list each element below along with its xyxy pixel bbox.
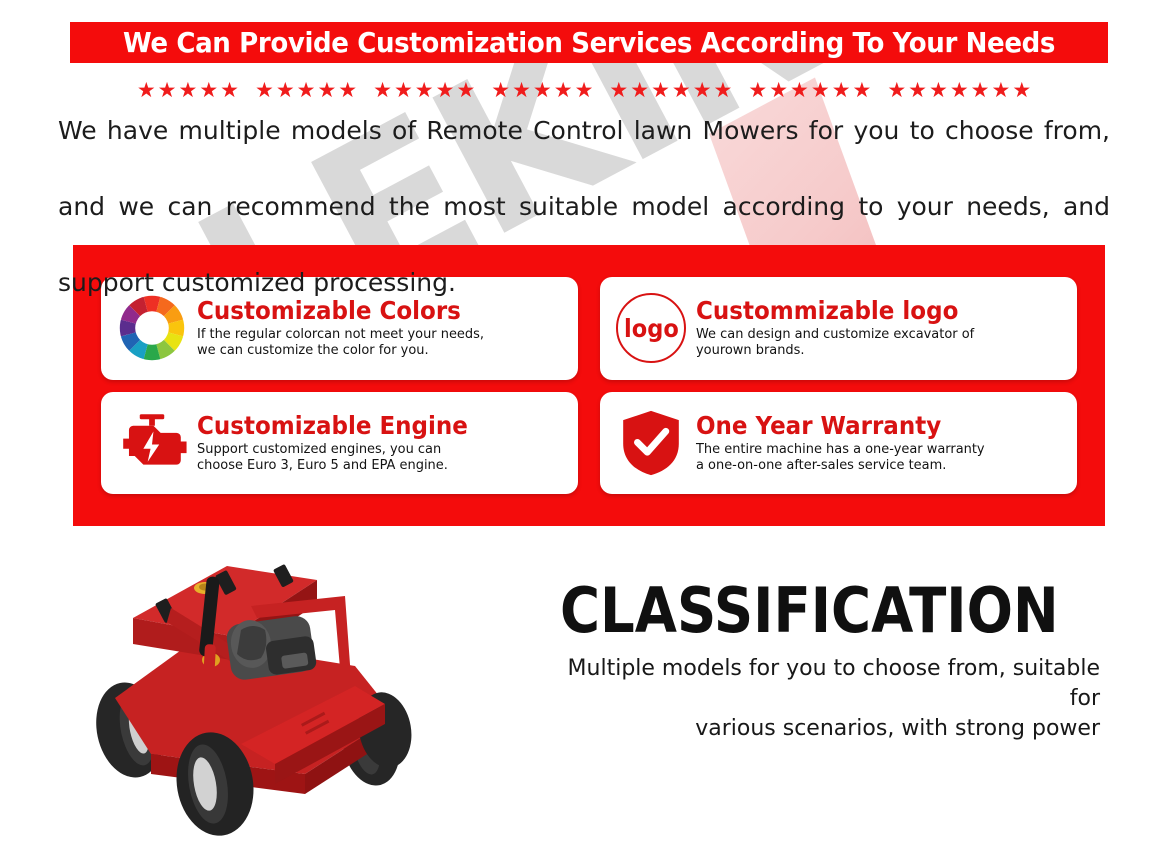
star-icon: ★: [630, 80, 649, 101]
stars-divider: ★★★★★★★★★★★★★★★★★★★★★★★★★★★★★★★★★★★★★★★: [0, 74, 1168, 106]
classification-section: CLASSIFICATION Multiple models for you t…: [560, 578, 1100, 744]
star-icon: ★: [297, 80, 316, 101]
star-group-7: ★★★★★★★: [886, 80, 1032, 101]
star-icon: ★: [554, 80, 573, 101]
logo-circle-icon: logo: [614, 291, 688, 365]
star-group-5: ★★★★★★: [608, 80, 733, 101]
logo-circle-outline: logo: [616, 293, 686, 363]
star-icon: ★: [137, 80, 156, 101]
feature-card-warranty-desc-1: The entire machine has a one-year warran…: [696, 441, 1048, 457]
feature-card-warranty-title: One Year Warranty: [696, 413, 1034, 439]
star-group-4: ★★★★★: [490, 80, 594, 101]
star-icon: ★: [317, 80, 336, 101]
shield-check-icon: [614, 406, 688, 480]
feature-card-logo-body: Custommizable logo We can design and cus…: [696, 298, 1063, 358]
feature-card-engine-desc-1: Support customized engines, you can: [197, 441, 549, 457]
feature-card-colors-body: Customizable Colors If the regular color…: [197, 298, 564, 358]
star-icon: ★: [179, 80, 198, 101]
star-icon: ★: [853, 80, 872, 101]
star-group-2: ★★★★★: [254, 80, 358, 101]
feature-card-logo-desc-1: We can design and customize excavator of: [696, 326, 1048, 342]
star-icon: ★: [929, 80, 948, 101]
remote-control-lawn-mower-photo: [55, 548, 455, 840]
marketing-page: LEKING We Can Provide Customization Serv…: [0, 0, 1168, 847]
star-icon: ★: [950, 80, 969, 101]
star-icon: ★: [651, 80, 670, 101]
feature-card-warranty-body: One Year Warranty The entire machine has…: [696, 413, 1063, 473]
feature-card-engine-body: Customizable Engine Support customized e…: [197, 413, 564, 473]
banner-title: We Can Provide Customization Services Ac…: [106, 22, 1071, 63]
star-icon: ★: [255, 80, 274, 101]
star-icon: ★: [575, 80, 594, 101]
intro-paragraph: We have multiple models of Remote Contro…: [58, 112, 1110, 302]
classification-title: CLASSIFICATION: [560, 578, 1035, 644]
feature-card-colors-desc-2: we can customize the color for you.: [197, 342, 549, 358]
star-icon: ★: [394, 80, 413, 101]
star-icon: ★: [832, 80, 851, 101]
star-icon: ★: [436, 80, 455, 101]
star-icon: ★: [609, 80, 628, 101]
star-group-6: ★★★★★★: [747, 80, 872, 101]
feature-card-engine-title: Customizable Engine: [197, 413, 535, 439]
feature-card-logo-desc-2: yourown brands.: [696, 342, 1048, 358]
star-icon: ★: [991, 80, 1010, 101]
feature-card-colors-desc-1: If the regular colorcan not meet your ne…: [197, 326, 549, 342]
feature-card-colors-title: Customizable Colors: [197, 298, 535, 324]
star-icon: ★: [971, 80, 990, 101]
star-icon: ★: [1012, 80, 1031, 101]
star-icon: ★: [790, 80, 809, 101]
star-icon: ★: [158, 80, 177, 101]
feature-card-engine-desc-2: choose Euro 3, Euro 5 and EPA engine.: [197, 457, 549, 473]
color-wheel-icon: [115, 291, 189, 365]
star-icon: ★: [491, 80, 510, 101]
intro-line-2: and we can recommend the most suitable m…: [58, 188, 1110, 264]
star-icon: ★: [199, 80, 218, 101]
intro-line-3: support customized processing.: [58, 264, 1110, 302]
star-icon: ★: [748, 80, 767, 101]
classification-subtitle: Multiple models for you to choose from, …: [560, 654, 1100, 744]
star-icon: ★: [456, 80, 475, 101]
star-icon: ★: [672, 80, 691, 101]
star-group-3: ★★★★★: [372, 80, 476, 101]
engine-icon: [115, 406, 189, 480]
star-icon: ★: [338, 80, 357, 101]
star-icon: ★: [220, 80, 239, 101]
star-icon: ★: [769, 80, 788, 101]
logo-circle-label: logo: [624, 314, 679, 343]
star-icon: ★: [908, 80, 927, 101]
star-icon: ★: [276, 80, 295, 101]
star-icon: ★: [811, 80, 830, 101]
star-icon: ★: [714, 80, 733, 101]
classification-subtitle-line-1: Multiple models for you to choose from, …: [560, 654, 1100, 714]
star-group-1: ★★★★★: [136, 80, 240, 101]
star-icon: ★: [512, 80, 531, 101]
star-icon: ★: [373, 80, 392, 101]
star-icon: ★: [533, 80, 552, 101]
feature-card-logo-title: Custommizable logo: [696, 298, 1034, 324]
intro-line-1: We have multiple models of Remote Contro…: [58, 112, 1110, 188]
feature-card-engine[interactable]: Customizable Engine Support customized e…: [101, 392, 578, 495]
title-banner: We Can Provide Customization Services Ac…: [70, 22, 1108, 63]
star-icon: ★: [693, 80, 712, 101]
star-icon: ★: [887, 80, 906, 101]
feature-card-warranty[interactable]: One Year Warranty The entire machine has…: [600, 392, 1077, 495]
star-icon: ★: [415, 80, 434, 101]
feature-card-warranty-desc-2: a one-on-one after-sales service team.: [696, 457, 1048, 473]
classification-subtitle-line-2: various scenarios, with strong power: [560, 714, 1100, 744]
